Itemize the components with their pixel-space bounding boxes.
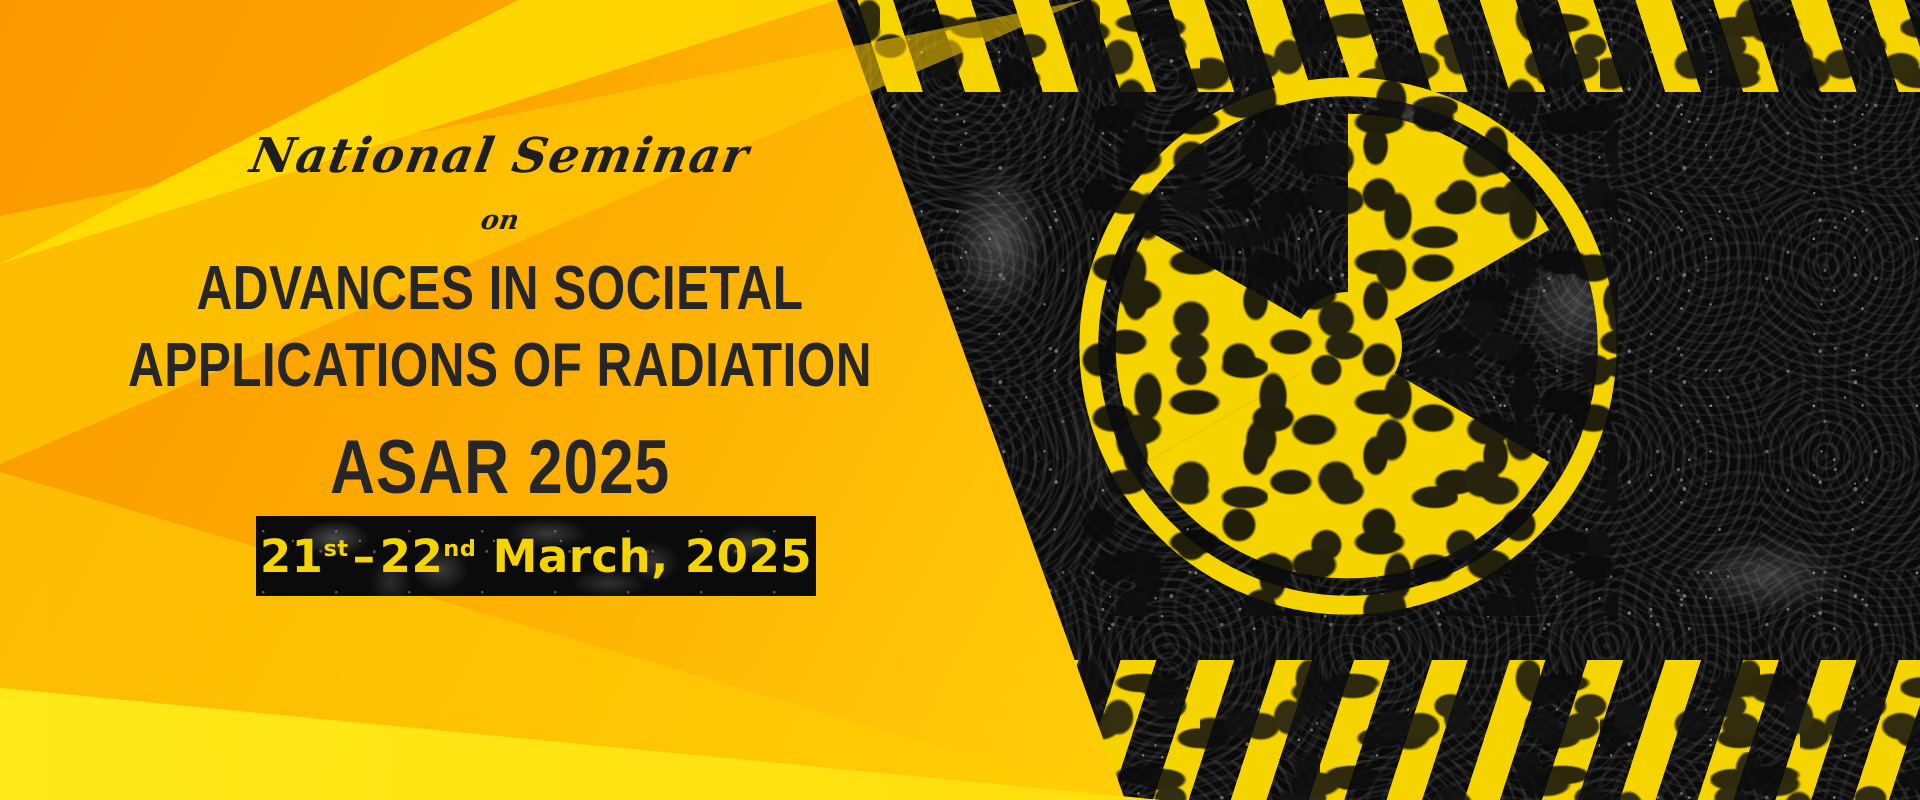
- seminar-kicker: National Seminar: [0, 128, 1005, 184]
- seminar-title-line-2: APPLICATIONS OF RADIATION: [100, 330, 900, 401]
- banner-text-block: National Seminar on ADVANCES IN SOCIETAL…: [0, 0, 1000, 800]
- event-date-text: 21st–22nd March, 2025: [260, 530, 812, 583]
- seminar-acronym: ASAR 2025: [90, 424, 910, 511]
- date-day-end: 22: [380, 530, 444, 583]
- date-separator: –: [349, 530, 380, 583]
- date-day-end-ordinal: nd: [443, 536, 476, 562]
- date-day-start-ordinal: st: [323, 536, 348, 562]
- seminar-on-label: on: [0, 205, 1003, 236]
- date-day-start: 21: [260, 530, 324, 583]
- event-date-bar: 21st–22nd March, 2025: [256, 516, 816, 596]
- event-banner: National Seminar on ADVANCES IN SOCIETAL…: [0, 0, 1920, 800]
- seminar-title-line-1: ADVANCES IN SOCIETAL: [100, 253, 900, 324]
- date-month-year: March, 2025: [493, 530, 813, 583]
